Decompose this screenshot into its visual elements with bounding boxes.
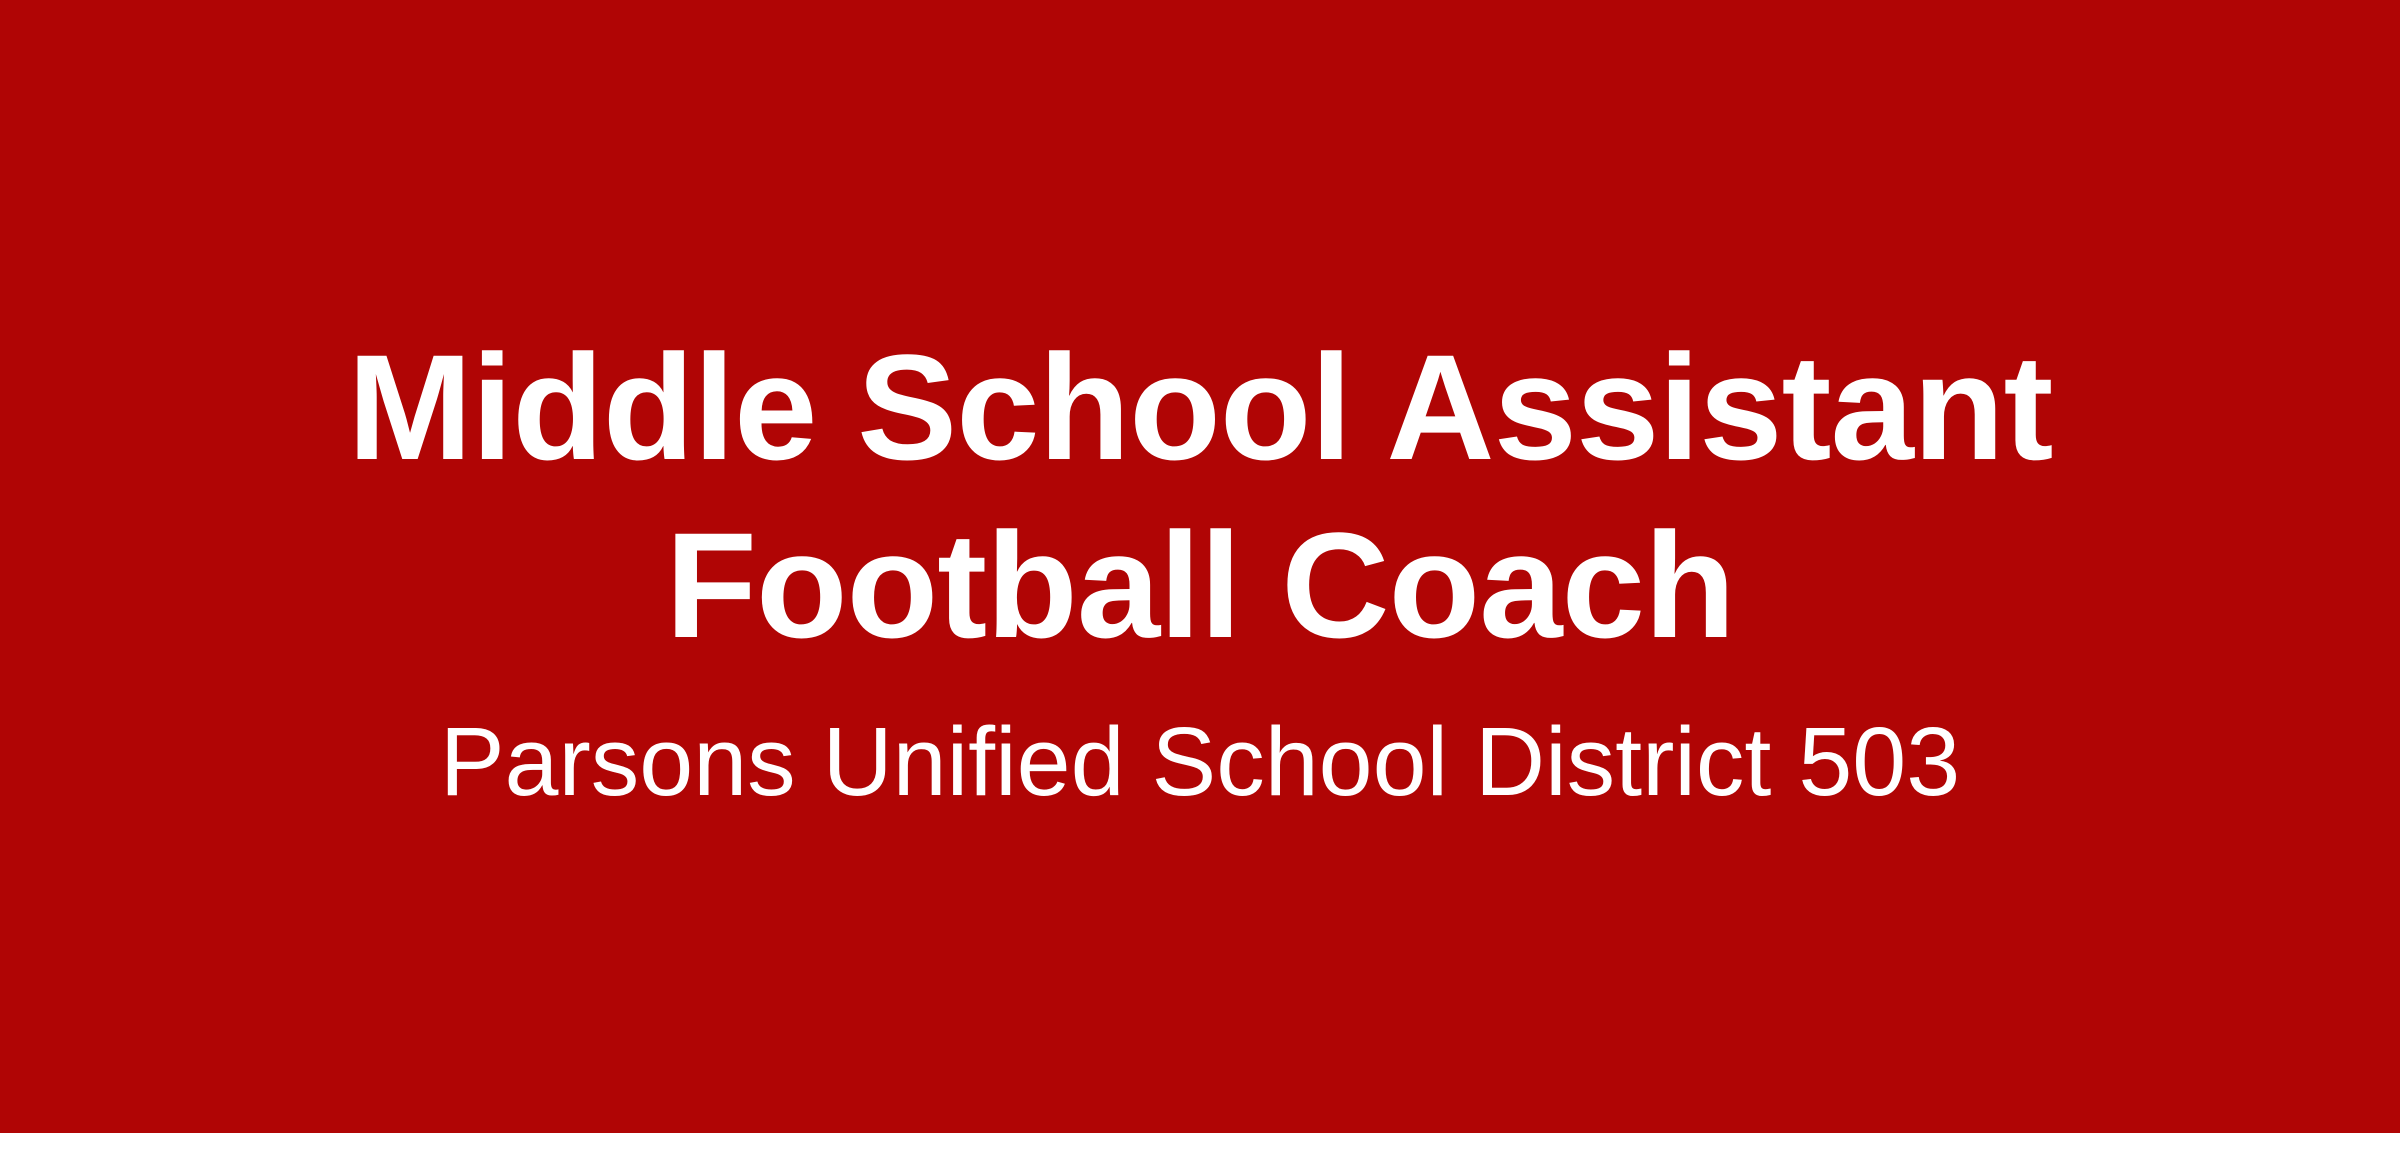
- page-title: Middle School Assistant Football Coach: [320, 318, 2080, 674]
- job-posting-banner: Middle School Assistant Football Coach P…: [0, 0, 2400, 1133]
- bottom-divider: [0, 1133, 2400, 1173]
- banner-content: Middle School Assistant Football Coach P…: [320, 318, 2080, 818]
- organization-name: Parsons Unified School District 503: [320, 706, 2080, 818]
